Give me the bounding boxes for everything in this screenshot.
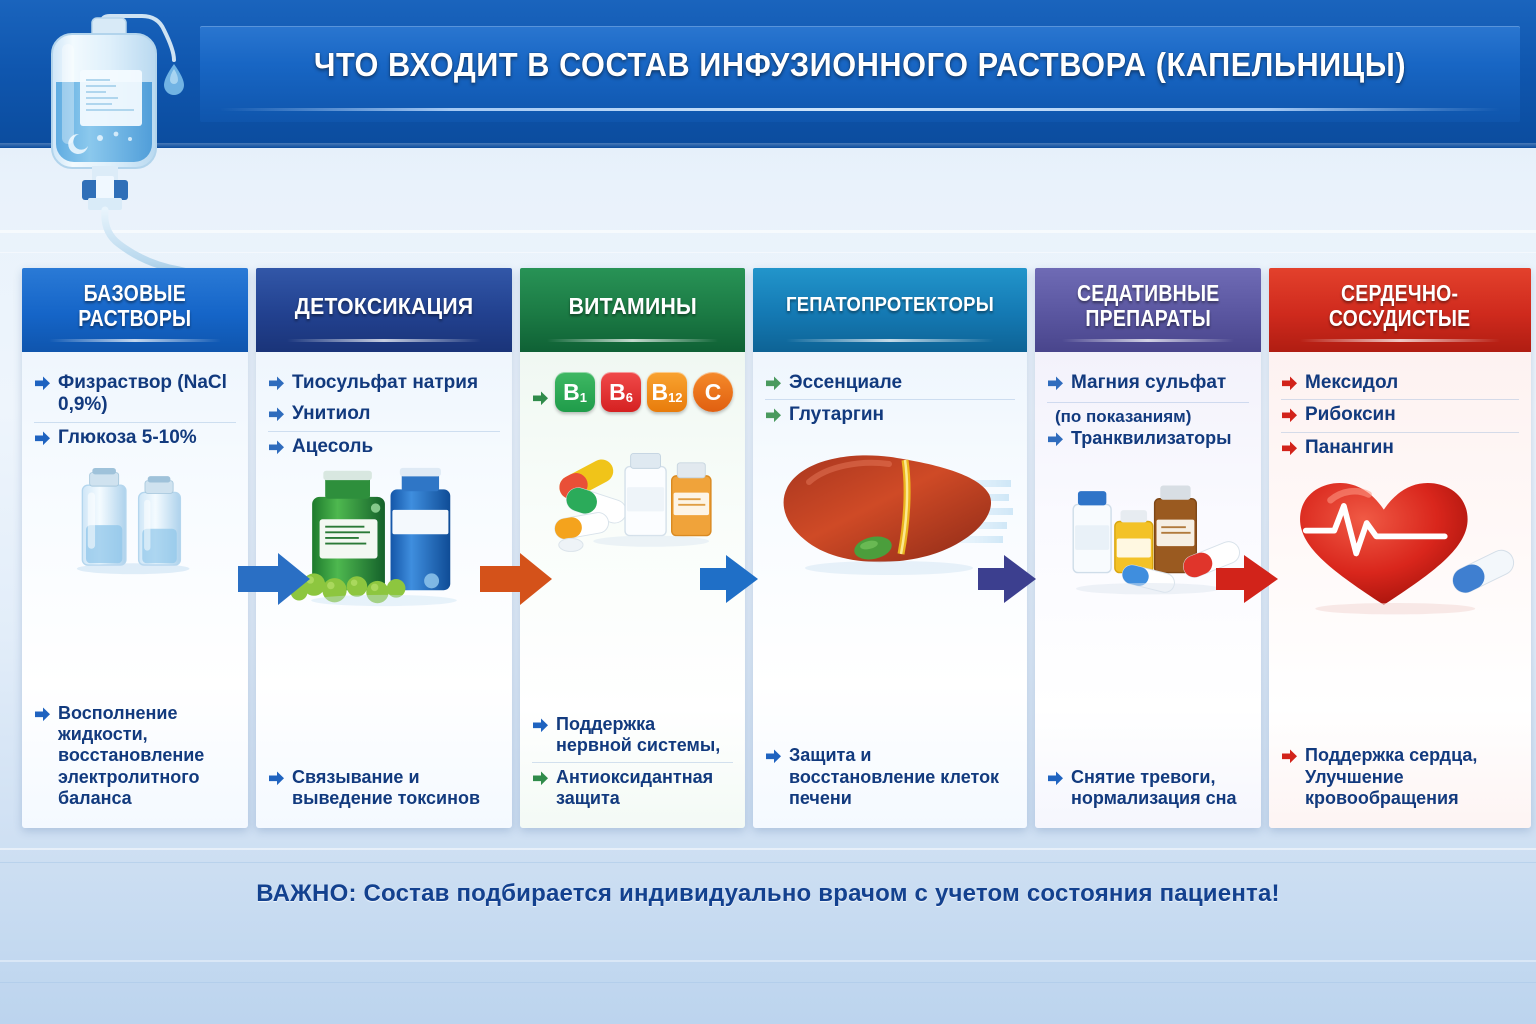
outcome-item[interactable]: Связывание и выведение токсинов bbox=[268, 763, 500, 814]
column-title-line-1: СЕДАТИВНЫЕ bbox=[1077, 281, 1220, 306]
outcome-label: Антиоксидантная защита bbox=[556, 767, 733, 809]
column-header-serdechno-sosudistye: СЕРДЕЧНО- СОСУДИСТЫЕ bbox=[1269, 268, 1531, 352]
drug-list: Эссенциале Глутаргин bbox=[765, 368, 1015, 432]
list-item[interactable]: Транквилизаторы bbox=[1047, 427, 1249, 454]
column-title: ДЕТОКСИКАЦИЯ bbox=[295, 294, 474, 319]
column-bazovye-rastvory[interactable]: БАЗОВЫЕ РАСТВОРЫ Физраствор (NaCl 0,9%) bbox=[22, 268, 248, 828]
red-arrow-icon bbox=[1281, 440, 1298, 457]
list-item-label: Рибоксин bbox=[1305, 404, 1519, 426]
vitamin-badge-sub: 12 bbox=[668, 378, 682, 418]
outcome-list: Связывание и выведение токсинов bbox=[268, 763, 500, 814]
vitamin-badge-letter: B bbox=[609, 372, 626, 412]
vitamin-badge-sub: 6 bbox=[626, 378, 633, 418]
vitamin-badge-row: B1 B6 B12 C bbox=[532, 368, 733, 414]
infographic-canvas: ЧТО ВХОДИТ В СОСТАВ ИНФУЗИОННОГО РАСТВОР… bbox=[0, 0, 1536, 1024]
blue-arrow-icon bbox=[268, 770, 285, 787]
flow-arrow-3 bbox=[700, 548, 760, 610]
background-band bbox=[0, 848, 1536, 850]
outcome-list: Поддержка нервной системы, Антиоксидантн… bbox=[532, 710, 733, 814]
column-title: ГЕПАТОПРОТЕКТОРЫ bbox=[786, 295, 994, 317]
column-header-vitaminy: ВИТАМИНЫ bbox=[520, 268, 745, 352]
spacer bbox=[1281, 625, 1519, 741]
outcome-item[interactable]: Снятие тревоги, нормализация сна bbox=[1047, 763, 1249, 814]
blue-arrow-icon bbox=[1047, 375, 1064, 392]
flow-arrow-2 bbox=[478, 548, 556, 610]
blue-arrow-icon bbox=[34, 375, 51, 392]
column-title: ВИТАМИНЫ bbox=[568, 294, 696, 319]
list-item[interactable]: Магния сульфат bbox=[1047, 368, 1249, 399]
list-item[interactable]: Ацесоль bbox=[268, 431, 500, 463]
list-item-label: Глюкоза 5-10% bbox=[58, 427, 236, 449]
spacer bbox=[268, 614, 500, 762]
outcome-label: Снятие тревоги, нормализация сна bbox=[1071, 767, 1249, 809]
vitamin-badge-letter: B bbox=[651, 372, 668, 412]
column-body-bazovye-rastvory: Физраствор (NaCl 0,9%) Глюкоза 5-10% bbox=[22, 352, 248, 828]
outcome-list: Поддержка сердца, Улучшение кровообращен… bbox=[1281, 741, 1519, 814]
list-item-label: Унитиол bbox=[292, 403, 500, 425]
vitamin-badge-letter: B bbox=[563, 372, 580, 412]
outcome-item[interactable]: Поддержка сердца, Улучшение кровообращен… bbox=[1281, 741, 1519, 814]
background-band bbox=[0, 960, 1536, 962]
outcome-list: Снятие тревоги, нормализация сна bbox=[1047, 763, 1249, 814]
outcome-item[interactable]: Антиоксидантная защита bbox=[532, 762, 733, 814]
page-title: ЧТО ВХОДИТ В СОСТАВ ИНФУЗИОННОГО РАСТВОР… bbox=[246, 46, 1474, 84]
red-arrow-icon bbox=[1281, 748, 1298, 765]
flow-arrow-1 bbox=[236, 548, 314, 610]
list-item[interactable]: Глутаргин bbox=[765, 399, 1015, 431]
blue-arrow-icon bbox=[34, 430, 51, 447]
vitamin-badge-sub: 1 bbox=[580, 378, 587, 418]
blue-arrow-icon bbox=[268, 406, 285, 423]
outcome-list: Восполнение жидкости, восстановление эле… bbox=[34, 699, 236, 814]
column-header-sedativnye-preparaty: СЕДАТИВНЫЕ ПРЕПАРАТЫ bbox=[1035, 268, 1261, 352]
list-item-label: Магния сульфат bbox=[1071, 372, 1249, 394]
iv-drip-bag-icon bbox=[24, 8, 214, 278]
vitamin-badge-c: C bbox=[693, 372, 733, 412]
list-item-label: Ацесоль bbox=[292, 436, 500, 458]
list-item[interactable]: Физраствор (NaCl 0,9%) bbox=[34, 368, 236, 422]
outcome-label: Связывание и выведение токсинов bbox=[292, 767, 500, 809]
outcome-list: Защита и восстановление клеток печени bbox=[765, 741, 1015, 814]
heart-with-ecg-and-capsule-icon bbox=[1281, 468, 1519, 623]
list-item[interactable]: Рибоксин bbox=[1281, 399, 1519, 431]
vitamin-badge-b6: B6 bbox=[601, 372, 641, 412]
vitamin-badge-b12: B12 bbox=[647, 372, 687, 412]
list-item[interactable]: Тиосульфат натрия bbox=[268, 368, 500, 399]
list-item-label: Мексидол bbox=[1305, 372, 1519, 394]
list-item[interactable]: Мексидол bbox=[1281, 368, 1519, 399]
background-band bbox=[0, 982, 1536, 983]
column-serdechno-sosudistye[interactable]: СЕРДЕЧНО- СОСУДИСТЫЕ Мексидол bbox=[1269, 268, 1531, 828]
column-title-line-1: СЕРДЕЧНО- bbox=[1329, 281, 1471, 306]
green-arrow-icon bbox=[765, 375, 782, 392]
column-body-serdechno-sosudistye: Мексидол Рибоксин Панангин bbox=[1269, 352, 1531, 828]
spacer bbox=[34, 583, 236, 699]
blue-arrow-icon bbox=[532, 717, 549, 734]
spacer bbox=[1047, 608, 1249, 763]
list-item-label: Глутаргин bbox=[789, 404, 1015, 426]
list-item-label: Транквилизаторы bbox=[1071, 428, 1249, 449]
blue-arrow-icon bbox=[34, 706, 51, 723]
list-item[interactable]: Эссенциале bbox=[765, 368, 1015, 399]
drug-list: Тиосульфат натрия Унитиол Ацесоль bbox=[268, 368, 500, 463]
drug-list: Магния сульфат (по показаниям) Транквили… bbox=[1047, 368, 1249, 455]
red-arrow-icon bbox=[1281, 375, 1298, 392]
outcome-item[interactable]: Защита и восстановление клеток печени bbox=[765, 741, 1015, 814]
column-header-detoksikaciya: ДЕТОКСИКАЦИЯ bbox=[256, 268, 512, 352]
green-arrow-icon bbox=[532, 390, 549, 407]
column-title-line-2: СОСУДИСТЫЕ bbox=[1329, 306, 1471, 331]
flow-arrow-5 bbox=[1216, 548, 1280, 610]
list-item-label: Эссенциале bbox=[789, 372, 1015, 394]
background-band bbox=[0, 230, 1536, 233]
title-underline bbox=[220, 108, 1500, 111]
list-item[interactable]: Панангин bbox=[1281, 432, 1519, 464]
outcome-label: Поддержка сердца, Улучшение кровообращен… bbox=[1305, 745, 1519, 809]
list-item[interactable]: Глюкоза 5-10% bbox=[34, 422, 236, 454]
outcome-label: Защита и восстановление клеток печени bbox=[789, 745, 1015, 809]
background-band bbox=[0, 252, 1536, 253]
vitamin-badge-letter: C bbox=[705, 372, 722, 412]
blue-arrow-icon bbox=[1047, 770, 1064, 787]
list-item-label: Тиосульфат натрия bbox=[292, 372, 500, 394]
blue-arrow-icon bbox=[268, 375, 285, 392]
two-saline-vials-icon bbox=[34, 458, 236, 581]
column-header-bazovye-rastvory: БАЗОВЫЕ РАСТВОРЫ bbox=[22, 268, 248, 352]
drug-list: Физраствор (NaCl 0,9%) Глюкоза 5-10% bbox=[34, 368, 236, 454]
outcome-item[interactable]: Восполнение жидкости, восстановление эле… bbox=[34, 699, 236, 814]
blue-arrow-icon bbox=[268, 439, 285, 456]
drug-list: Мексидол Рибоксин Панангин bbox=[1281, 368, 1519, 464]
column-header-gepatoprotektory: ГЕПАТОПРОТЕКТОРЫ bbox=[753, 268, 1027, 352]
indication-note: (по показаниям) bbox=[1047, 402, 1249, 427]
column-title-line-1: БАЗОВЫЕ bbox=[78, 281, 191, 306]
list-item-label: Физраствор (NaCl 0,9%) bbox=[58, 372, 236, 417]
capsules-and-pill-bottle-icon bbox=[532, 418, 733, 563]
outcome-item[interactable]: Поддержка нервной системы, bbox=[532, 710, 733, 761]
green-arrow-icon bbox=[532, 770, 549, 787]
blue-arrow-icon bbox=[1047, 431, 1064, 448]
column-title-line-2: ПРЕПАРАТЫ bbox=[1077, 306, 1220, 331]
red-arrow-icon bbox=[1281, 407, 1298, 424]
list-item[interactable]: Унитиол bbox=[268, 399, 500, 430]
outcome-label: Восполнение жидкости, восстановление эле… bbox=[58, 703, 236, 809]
outcome-label: Поддержка нервной системы, bbox=[556, 714, 733, 756]
list-item-label: Панангин bbox=[1305, 437, 1519, 459]
background-band bbox=[0, 862, 1536, 863]
flow-arrow-4 bbox=[978, 548, 1038, 610]
spacer bbox=[765, 593, 1015, 741]
column-title-line-2: РАСТВОРЫ bbox=[78, 306, 191, 331]
footer-note: ВАЖНО: Состав подбирается индивидуально … bbox=[0, 880, 1536, 908]
blue-arrow-icon bbox=[765, 748, 782, 765]
green-arrow-icon bbox=[765, 407, 782, 424]
vitamin-badge-b1: B1 bbox=[555, 372, 595, 412]
